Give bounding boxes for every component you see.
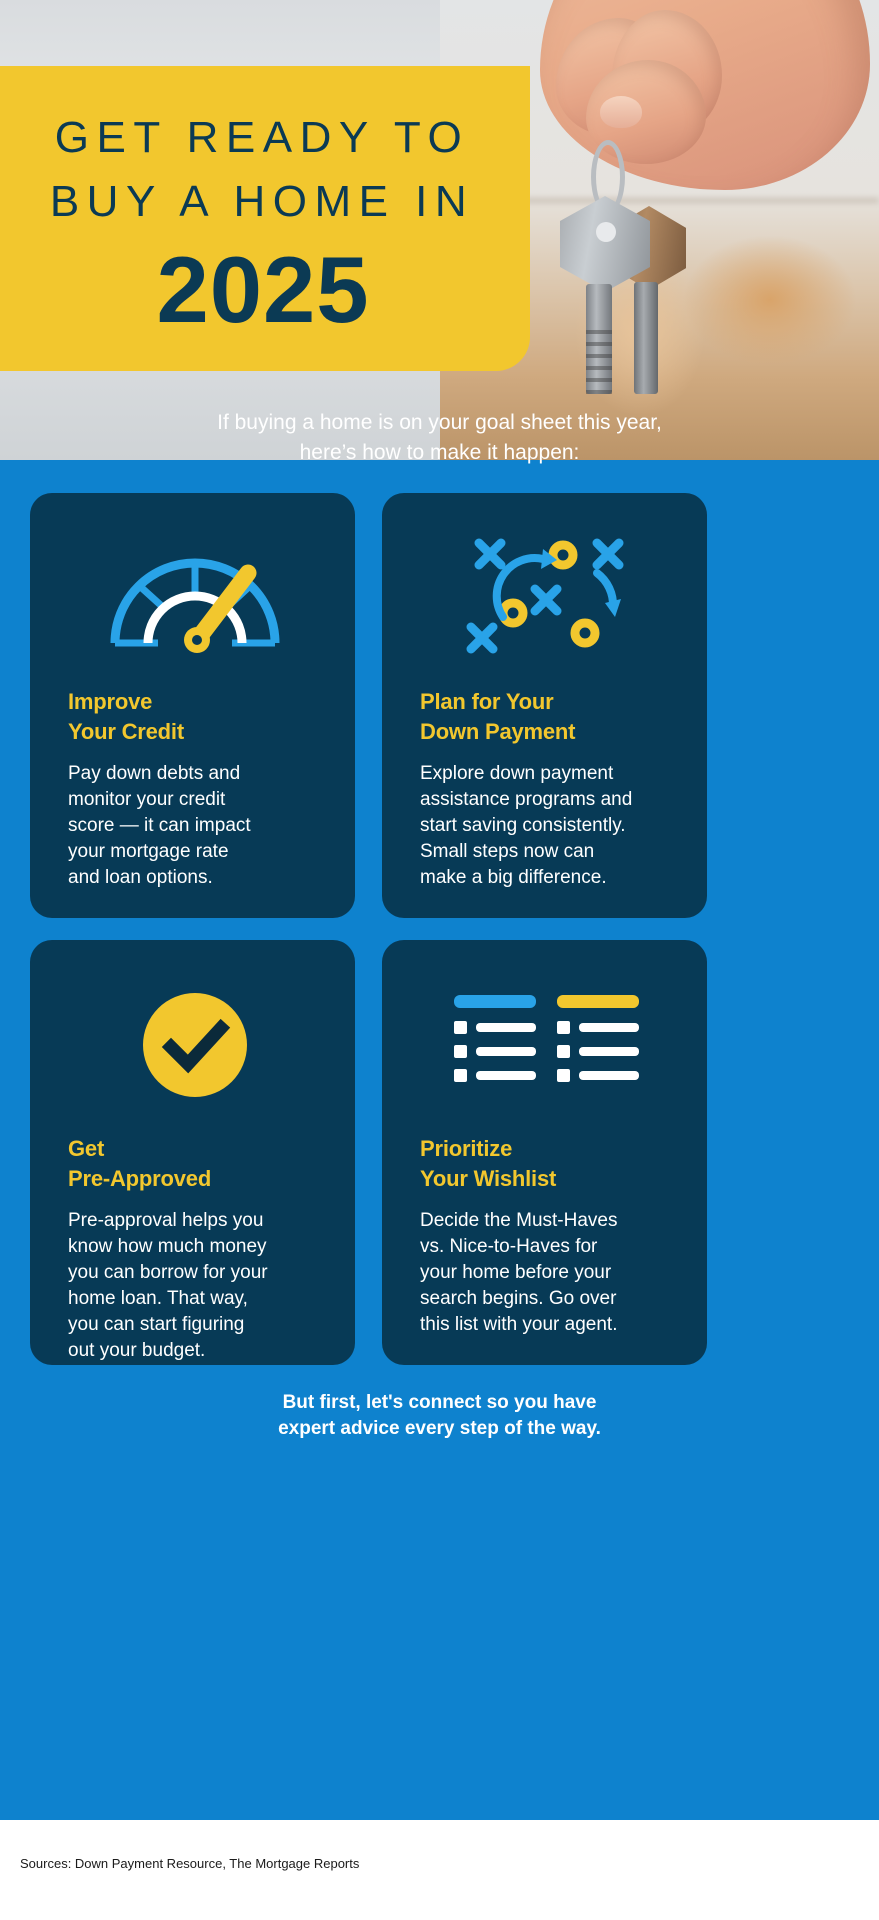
- card-title: Improve Your Credit: [68, 687, 321, 747]
- subtitle: If buying a home is on your goal sheet t…: [0, 408, 879, 468]
- playbook-strategy-icon: [420, 523, 673, 673]
- card-improve-your-credit[interactable]: Improve Your Credit Pay down debts and m…: [30, 493, 355, 918]
- title-line-2: BUY A HOME IN: [0, 170, 530, 234]
- sources-strip: Sources: Down Payment Resource, The Mort…: [0, 1820, 879, 1920]
- card-get-pre-approved[interactable]: Get Pre-Approved Pre-approval helps you …: [30, 940, 355, 1365]
- card-title: Get Pre-Approved: [68, 1134, 321, 1194]
- fingernail-icon: [600, 96, 642, 128]
- key-teeth-icon: [586, 330, 612, 394]
- card-title: Plan for Your Down Payment: [420, 687, 673, 747]
- card-plan-for-your-down-payment[interactable]: Plan for Your Down Payment Explore down …: [382, 493, 707, 918]
- infographic-page: GET READY TO BUY A HOME IN 2025 If buyin…: [0, 0, 879, 1920]
- card-prioritize-your-wishlist[interactable]: Prioritize Your Wishlist Decide the Must…: [382, 940, 707, 1365]
- cta-text: But first, let's connect so you have exp…: [0, 1390, 879, 1442]
- sources-text: Sources: Down Payment Resource, The Mort…: [20, 1856, 359, 1871]
- title-line-1: GET READY TO: [0, 106, 530, 170]
- title-banner: GET READY TO BUY A HOME IN 2025: [0, 66, 530, 371]
- card-body: Pay down debts and monitor your credit s…: [68, 761, 321, 891]
- card-body: Explore down payment assistance programs…: [420, 761, 673, 891]
- card-body: Decide the Must-Haves vs. Nice-to-Haves …: [420, 1208, 673, 1338]
- key-hole-icon: [596, 222, 616, 242]
- title-year: 2025: [0, 238, 530, 342]
- check-circle-icon: [68, 970, 321, 1120]
- tips-card-grid: Improve Your Credit Pay down debts and m…: [30, 493, 849, 1365]
- card-body: Pre-approval helps you know how much mon…: [68, 1208, 321, 1364]
- credit-gauge-icon: [68, 523, 321, 673]
- key-shaft-icon: [634, 282, 658, 394]
- checklist-wishlist-icon: [420, 970, 673, 1120]
- card-title: Prioritize Your Wishlist: [420, 1134, 673, 1194]
